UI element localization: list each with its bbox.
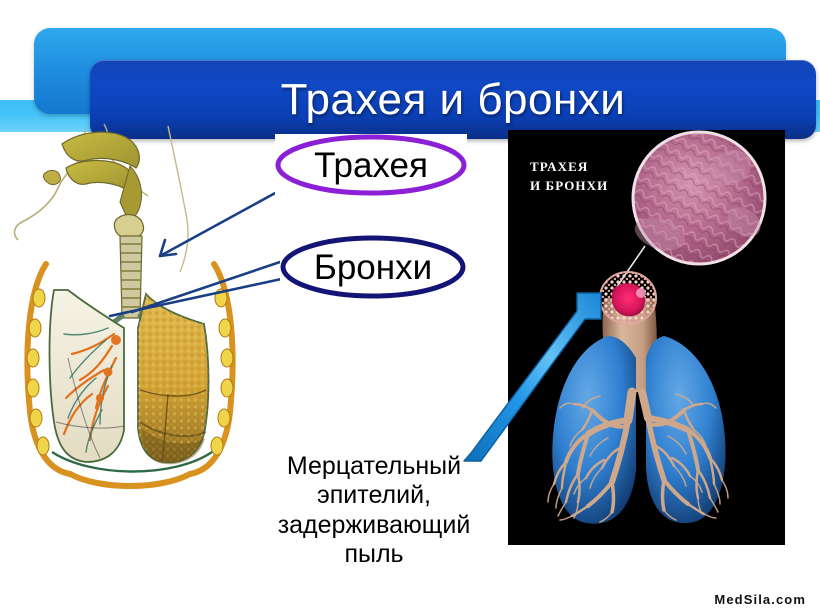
callout-bronchi-label: Бронхи [314,250,432,285]
photo-panel-caption: Трахея и бронхи [530,158,608,196]
callout-bronchi[interactable]: Бронхи [280,235,466,300]
watermark: MedSila.com [714,592,806,607]
title-banner-outer-plate: Трахея и бронхи [34,28,786,114]
respiratory-system-illustration [8,122,258,492]
photo-panel: Трахея и бронхи [508,130,785,545]
callout-trachea[interactable]: Трахея [275,134,467,196]
epithelium-caption: Мерцательный эпителий, задерживающий пыл… [238,452,510,569]
slide-canvas: Трахея и бронхи [0,0,820,615]
page-title: Трахея и бронхи [281,78,626,122]
callout-trachea-label: Трахея [314,148,428,183]
